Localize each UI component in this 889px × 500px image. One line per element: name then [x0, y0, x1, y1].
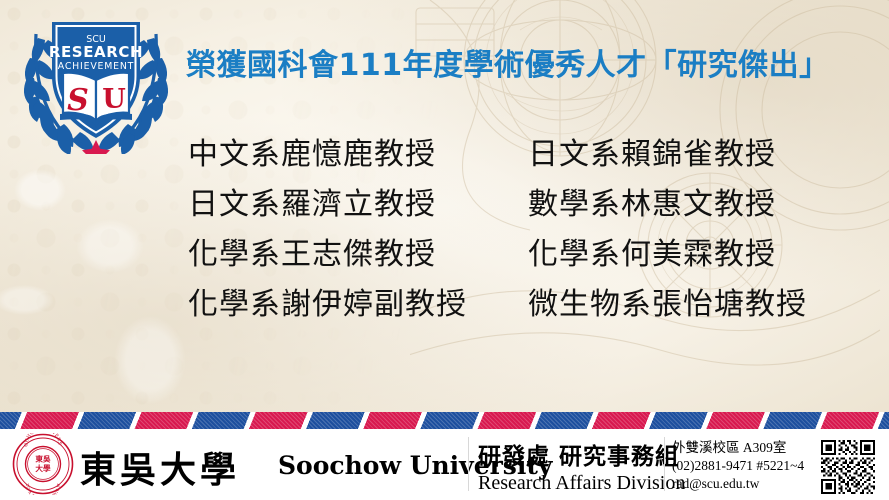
footer-bar: SOOCHOW UNIVERSITY UNTO A FULL GROWN MAN… [0, 429, 889, 500]
emblem-monogram-u: U [102, 84, 126, 115]
ribbon-texture [0, 412, 889, 429]
awardee-name: 日文系賴錦雀教授 [528, 129, 848, 173]
awardee-name: 化學系王志傑教授 [188, 229, 528, 273]
contact-email[interactable]: rad@scu.edu.tw [672, 475, 804, 493]
awardee-name: 微生物系張怡塘教授 [528, 279, 848, 323]
awardee-name: 日文系羅濟立教授 [188, 179, 528, 223]
awardee-row: 日文系羅濟立教授 數學系林惠文教授 [188, 176, 848, 226]
poster-canvas: SCU RESEARCH ACHIEVEMENT S U 榮獲國科會111年度學… [0, 0, 889, 500]
ribbon-divider [0, 412, 889, 429]
department-name-cn: 研發處 研究事務組 [478, 437, 685, 471]
awardee-name: 數學系林惠文教授 [528, 179, 848, 223]
footer-divider-right [664, 437, 665, 491]
awardee-name: 化學系何美霖教授 [528, 229, 848, 273]
contact-address: 外雙溪校區 A309室 [672, 439, 804, 457]
contact-block: 外雙溪校區 A309室 (02)2881-9471 #5221~4 rad@sc… [672, 439, 804, 492]
footer-divider-left [468, 437, 469, 491]
emblem-sub-text: ACHIEVEMENT [58, 61, 134, 72]
department-block: 研發處 研究事務組 Research Affairs Division [478, 437, 685, 495]
emblem-monogram-s: S [67, 83, 89, 118]
svg-text:東吳: 東吳 [35, 454, 51, 464]
university-name-cn: 東吳大學 [80, 441, 240, 493]
department-name-en: Research Affairs Division [478, 472, 685, 495]
page-title: 榮獲國科會111年度學術優秀人才「研究傑出」 [186, 40, 830, 84]
awardee-name: 中文系鹿憶鹿教授 [188, 129, 528, 173]
awardee-list: 中文系鹿憶鹿教授 日文系賴錦雀教授 日文系羅濟立教授 數學系林惠文教授 化學系王… [188, 126, 848, 326]
awardee-row: 中文系鹿憶鹿教授 日文系賴錦雀教授 [188, 126, 848, 176]
awardee-row: 化學系謝伊婷副教授 微生物系張怡塘教授 [188, 276, 848, 326]
contact-phone: (02)2881-9471 #5221~4 [672, 457, 804, 475]
awardee-row: 化學系王志傑教授 化學系何美霖教授 [188, 226, 848, 276]
awardee-name: 化學系謝伊婷副教授 [188, 279, 528, 323]
svg-text:大學: 大學 [35, 463, 51, 473]
soochow-university-seal: SOOCHOW UNIVERSITY UNTO A FULL GROWN MAN… [12, 433, 74, 495]
qr-code[interactable] [818, 440, 878, 494]
ribbon-stripes [0, 412, 889, 429]
scu-research-achievement-emblem: SCU RESEARCH ACHIEVEMENT S U [8, 4, 184, 154]
emblem-main-text: RESEARCH [49, 43, 143, 61]
